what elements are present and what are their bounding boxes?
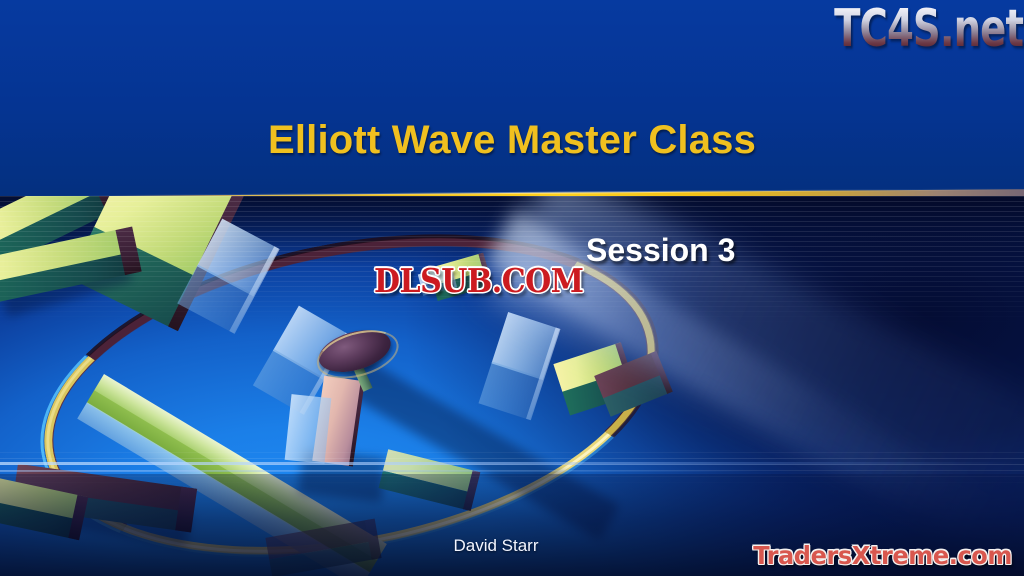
page-title: Elliott Wave Master Class xyxy=(0,118,1024,163)
floor-reflection-line xyxy=(0,462,1024,465)
presenter-name-text: David Starr xyxy=(453,536,538,555)
slide-header-band: TC4S.net TC4S.net Elliott Wave Master Cl… xyxy=(0,0,1024,196)
scanline-overlay-upper xyxy=(0,196,1024,326)
abstract-graphic-region xyxy=(0,196,1024,576)
session-label: Session 3 xyxy=(586,232,735,269)
tc4s-watermark: TC4S.net xyxy=(826,0,1024,67)
dlsub-watermark: DLSUB.COM xyxy=(374,266,583,298)
floor-reflection-line-secondary xyxy=(0,470,760,472)
tradersxtreme-watermark: TradersXtreme.com xyxy=(753,543,1012,568)
presentation-slide: TC4S.net TC4S.net Elliott Wave Master Cl… xyxy=(0,0,1024,576)
